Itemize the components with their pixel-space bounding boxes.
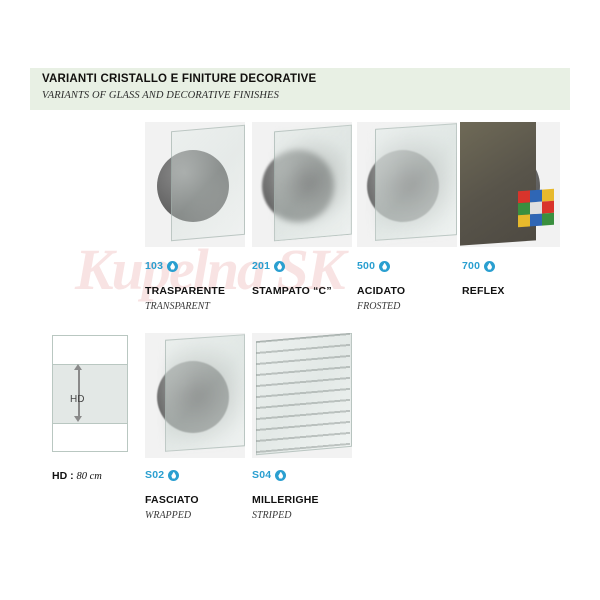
hd-arrow-icon: [74, 364, 83, 422]
stripe-overlay: [256, 333, 350, 453]
swatch-image-700: [460, 122, 560, 247]
swatch-name-it-500: ACIDATO: [357, 285, 405, 297]
swatch-image-103: [145, 122, 245, 247]
hd-diagram-box: [52, 335, 128, 452]
swatch-code-row-700: 700: [462, 260, 495, 272]
reflex-panel: [460, 122, 536, 246]
page-title: VARIANTI CRISTALLO E FINITURE DECORATIVE: [42, 73, 316, 85]
water-drop-icon: [484, 261, 495, 272]
swatch-code-S02: S02: [145, 469, 164, 481]
page-subtitle: VARIANTS OF GLASS AND DECORATIVE FINISHE…: [42, 90, 279, 101]
water-drop-icon: [168, 470, 179, 481]
swatch-code-103: 103: [145, 260, 163, 272]
frost-overlay: [375, 123, 455, 239]
swatch-name-it-700: REFLEX: [462, 285, 505, 297]
hd-inner-label: HD: [70, 394, 84, 405]
swatch-image-201: [252, 122, 352, 247]
hd-caption-label: HD :: [52, 470, 74, 482]
swatch-name-it-201: STAMPATO “C”: [252, 285, 332, 297]
swatch-image-S02: [145, 333, 245, 458]
swatch-name-en-S02: WRAPPED: [145, 510, 191, 521]
swatch-image-500: [357, 122, 457, 247]
swatch-name-en-S04: STRIPED: [252, 510, 291, 521]
swatch-name-en-500: FROSTED: [357, 301, 400, 312]
swatch-name-en-103: TRANSPARENT: [145, 301, 210, 312]
hd-caption-value: 80 cm: [77, 471, 102, 482]
swatch-code-row-S02: S02: [145, 469, 179, 481]
water-drop-icon: [274, 261, 285, 272]
swatch-image-S04: [252, 333, 352, 458]
hd-diagram-fill: [53, 364, 127, 424]
swatch-name-it-103: TRASPARENTE: [145, 285, 225, 297]
swatch-code-201: 201: [252, 260, 270, 272]
swatch-code-700: 700: [462, 260, 480, 272]
color-grid: [518, 189, 554, 228]
hd-caption: HD : 80 cm: [52, 470, 102, 482]
swatch-name-it-S02: FASCIATO: [145, 494, 199, 506]
swatch-code-row-103: 103: [145, 260, 178, 272]
frost-overlay: [165, 334, 243, 449]
swatch-code-S04: S04: [252, 469, 271, 481]
swatch-code-row-S04: S04: [252, 469, 286, 481]
swatch-code-500: 500: [357, 260, 375, 272]
water-drop-icon: [167, 261, 178, 272]
water-drop-icon: [275, 470, 286, 481]
swatch-name-it-S04: MILLERIGHE: [252, 494, 319, 506]
glass-panel: [171, 125, 245, 241]
frost-overlay: [274, 125, 350, 240]
swatch-code-row-500: 500: [357, 260, 390, 272]
water-drop-icon: [379, 261, 390, 272]
swatch-code-row-201: 201: [252, 260, 285, 272]
